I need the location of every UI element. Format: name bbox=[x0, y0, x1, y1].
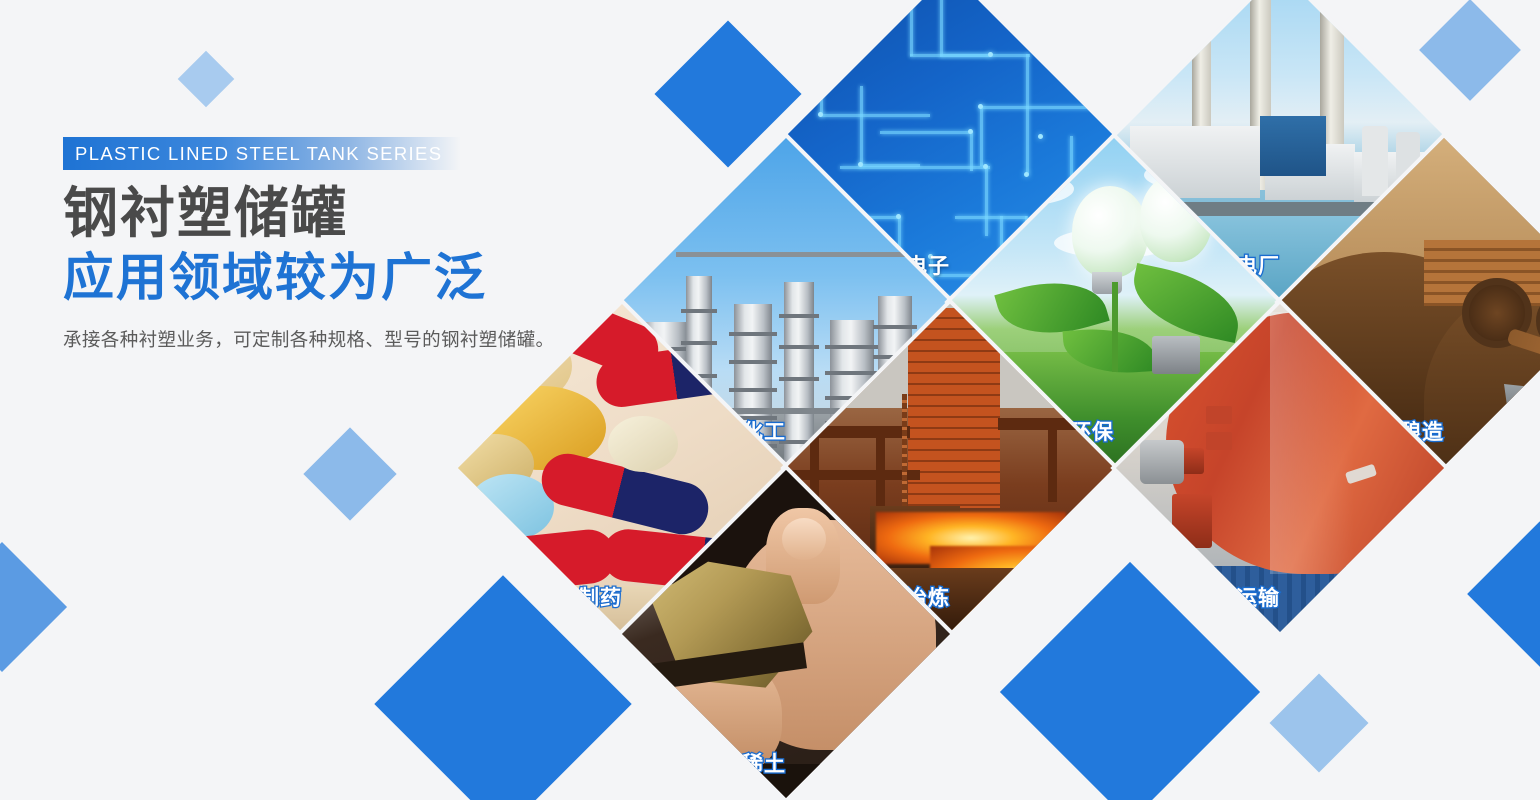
industry-diamond-collage: 电子化工电厂环保酿造制药冶炼运输稀土 bbox=[0, 0, 1540, 800]
diamond-deco-3 bbox=[1419, 0, 1521, 101]
page-description: 承接各种衬塑业务，可定制各种规格、型号的钢衬塑储罐。 bbox=[63, 326, 683, 352]
page-title: 钢衬塑储罐 bbox=[63, 182, 683, 246]
page-subtitle: 应用领域较为广泛 bbox=[63, 248, 683, 308]
diamond-deco-1 bbox=[178, 51, 235, 108]
diamond-deco-9 bbox=[1467, 509, 1540, 679]
diamond-deco-6 bbox=[374, 575, 631, 800]
diamond-deco-5 bbox=[0, 542, 67, 672]
headline-block: PLASTIC LINED STEEL TANK SERIES 钢衬塑储罐 应用… bbox=[63, 137, 683, 352]
diamond-deco-7 bbox=[1000, 562, 1260, 800]
eyebrow-text: PLASTIC LINED STEEL TANK SERIES bbox=[63, 143, 442, 165]
diamond-deco-4 bbox=[303, 427, 396, 520]
promo-banner: 电子化工电厂环保酿造制药冶炼运输稀土 PLASTIC LINED STEEL T… bbox=[0, 0, 1540, 800]
eyebrow-bar: PLASTIC LINED STEEL TANK SERIES bbox=[63, 137, 461, 170]
diamond-deco-8 bbox=[1270, 674, 1369, 773]
